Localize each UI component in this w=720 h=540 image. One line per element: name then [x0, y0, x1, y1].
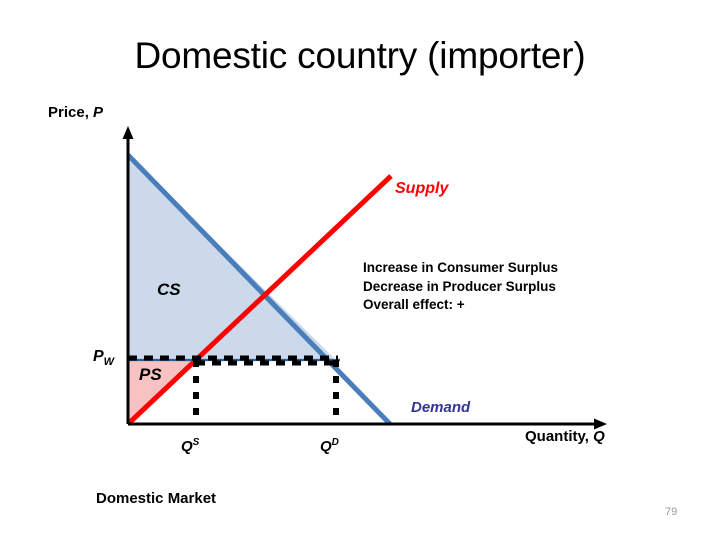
consumer-surplus-label: CS: [157, 280, 181, 300]
market-caption: Domestic Market: [96, 490, 216, 507]
welfare-effects-line-1: Increase in Consumer Surplus: [363, 259, 558, 278]
page-number: 79: [665, 506, 677, 518]
x-axis-label-text: Quantity,: [525, 428, 593, 445]
producer-surplus-label: PS: [139, 365, 162, 385]
welfare-effects-note: Increase in Consumer Surplus Decrease in…: [363, 259, 558, 315]
q-supply-base: Q: [181, 438, 193, 455]
y-axis-arrowhead: [123, 126, 134, 139]
welfare-effects-line-3: Overall effect: +: [363, 296, 558, 315]
x-axis-label-symbol: Q: [593, 428, 605, 445]
q-demand-base: Q: [320, 438, 332, 455]
q-supply-superscript: S: [193, 437, 200, 448]
y-axis-label: Price, P: [48, 104, 103, 121]
supply-demand-chart: [0, 0, 720, 540]
x-axis-label: Quantity, Q: [525, 428, 605, 445]
y-axis-label-symbol: P: [93, 104, 103, 121]
supply-curve-label: Supply: [395, 180, 448, 198]
y-axis-label-text: Price,: [48, 104, 93, 121]
slide-canvas: Domestic country (importer) Price, P Qua…: [0, 0, 720, 540]
demand-curve-label: Demand: [411, 399, 470, 416]
q-demand-label: QD: [320, 437, 339, 455]
world-price-base: P: [93, 348, 104, 365]
world-price-label: PW: [93, 348, 114, 368]
welfare-effects-line-2: Decrease in Producer Surplus: [363, 278, 558, 297]
world-price-subscript: W: [104, 356, 114, 368]
q-supply-label: QS: [181, 437, 199, 455]
q-demand-superscript: D: [332, 437, 339, 448]
